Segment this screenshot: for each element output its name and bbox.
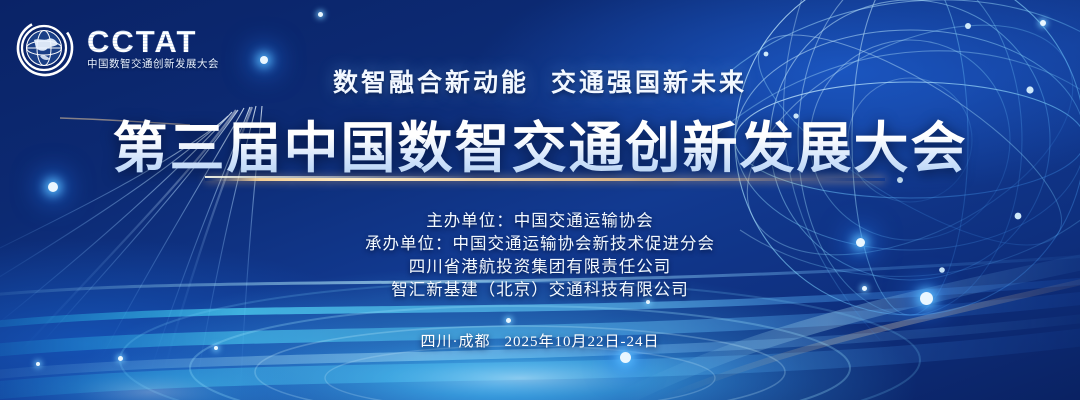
list-item: 主办单位：中国交通运输协会 [0,209,1080,232]
tagline-right: 交通强国新未来 [551,70,747,97]
event-dates: 2025年10月22日-24日 [505,334,660,350]
banner-content: 数智融合新动能交通强国新未来 第三届中国数智交通创新发展大会 主办单位：中国交通… [0,0,1080,400]
list-item: 智汇新基建（北京）交通科技有限公司 [0,278,1080,301]
gold-divider [205,178,885,181]
event-footer: 四川·成都2025年10月22日-24日 [0,330,1080,351]
tagline: 数智融合新动能交通强国新未来 [0,63,1080,99]
organizer-list: 主办单位：中国交通运输协会 承办单位：中国交通运输协会新技术促进分会 四川省港航… [0,209,1080,301]
list-item: 四川省港航投资集团有限责任公司 [0,255,1080,278]
tagline-left: 数智融合新动能 [333,70,529,97]
conference-banner: CCTAT 中国数智交通创新发展大会 数智融合新动能交通强国新未来 第三届中国数… [0,0,1080,400]
page-title: 第三届中国数智交通创新发展大会 [0,103,1080,183]
event-location: 四川·成都 [421,334,491,350]
list-item: 承办单位：中国交通运输协会新技术促进分会 [0,232,1080,255]
